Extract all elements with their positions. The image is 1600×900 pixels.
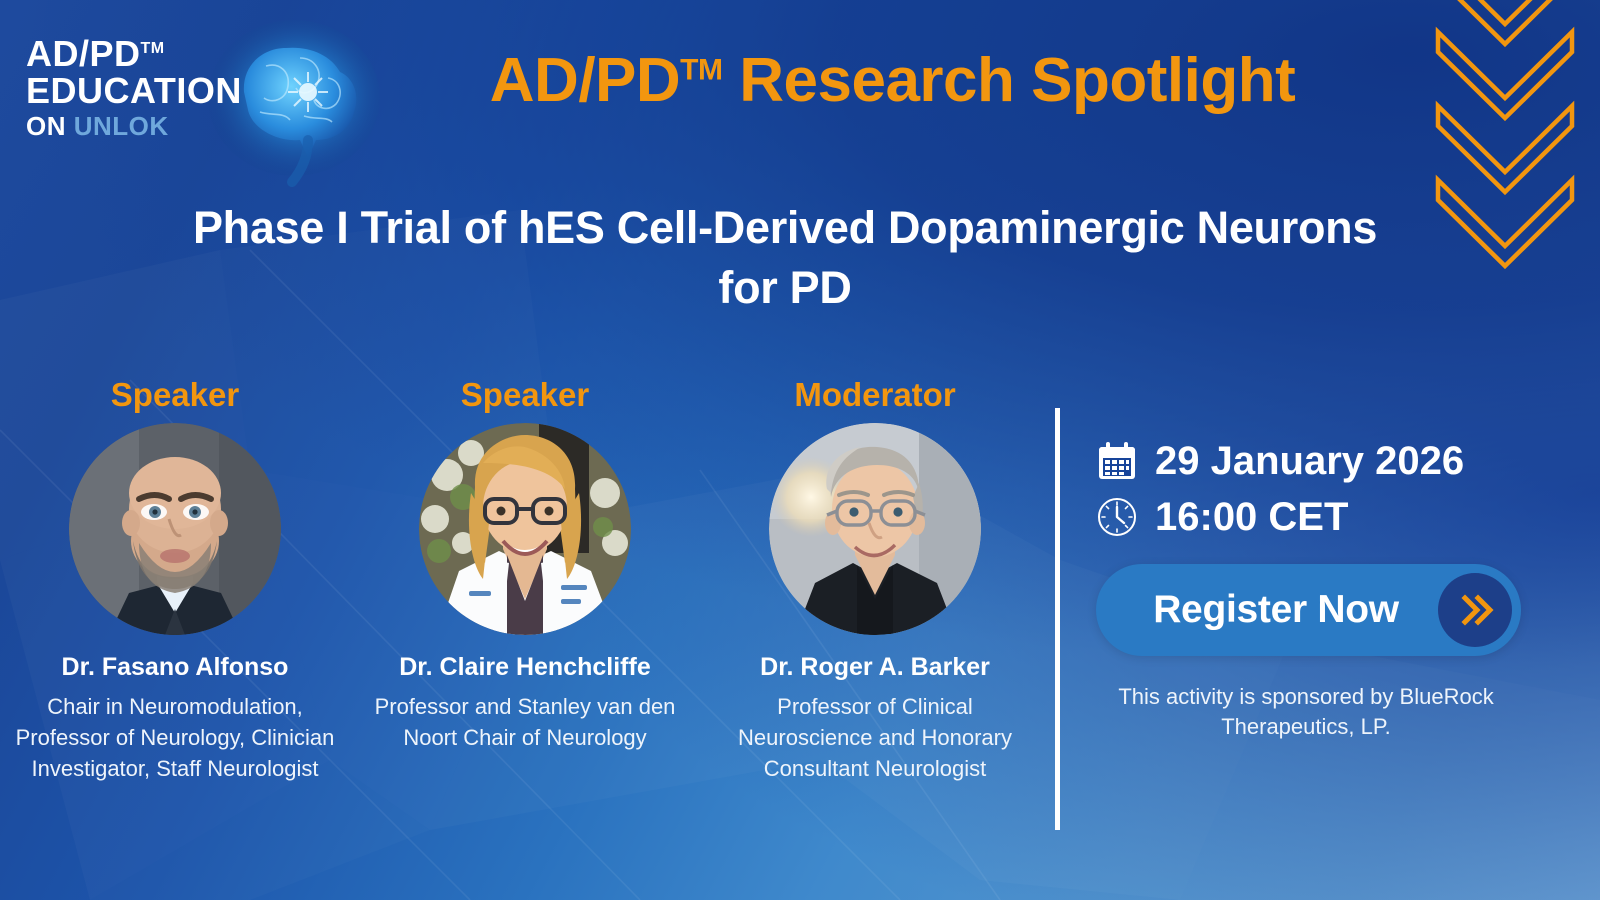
vertical-divider (1055, 408, 1060, 830)
webinar-promo-poster: AD/PDTM EDUCATION ON UNLOK AD/PDTM Resea… (0, 0, 1600, 900)
presenter-title: Chair in Neuromodulation, Professor of N… (0, 691, 350, 785)
logo-line-on-unlok: ON UNLOK (26, 113, 242, 140)
presenter-role-label: Speaker (350, 378, 700, 411)
moderator-portrait-barker (769, 423, 981, 635)
page-title: AD/PDTM Research Spotlight (370, 48, 1415, 113)
chevron-down-icon-stack (1410, 0, 1600, 310)
presenter-title: Professor and Stanley van den Noort Chai… (350, 691, 700, 753)
register-now-label: Register Now (1096, 588, 1438, 632)
presenter-name: Dr. Roger A. Barker (700, 652, 1050, 682)
register-now-button[interactable]: Register Now (1096, 564, 1521, 656)
adpd-education-logo: AD/PDTM EDUCATION ON UNLOK (22, 26, 374, 174)
logo-line-adpd: AD/PDTM (26, 36, 242, 73)
event-time-row: 16:00 CET (1096, 496, 1536, 538)
presenter-role-label: Moderator (700, 378, 1050, 411)
calendar-icon (1096, 440, 1138, 482)
event-time: 16:00 CET (1155, 497, 1348, 537)
speaker-portrait-henchcliffe (419, 423, 631, 635)
presenter-title: Professor of Clinical Neuroscience and H… (700, 691, 1050, 785)
clock-icon (1096, 496, 1138, 538)
logo-wordmark: AD/PDTM EDUCATION ON UNLOK (26, 36, 242, 140)
logo-line-education: EDUCATION (26, 73, 242, 110)
event-info-panel: 29 January 2026 16:00 CET Register Now (1096, 440, 1536, 742)
presenter-card-alfonso: Speaker (0, 378, 350, 785)
presenter-name: Dr. Fasano Alfonso (0, 652, 350, 682)
presenter-name: Dr. Claire Henchcliffe (350, 652, 700, 682)
presenter-role-label: Speaker (0, 378, 350, 411)
presenter-card-henchcliffe: Speaker (350, 378, 700, 785)
event-date-row: 29 January 2026 (1096, 440, 1536, 482)
page-subtitle: Phase I Trial of hES Cell-Derived Dopami… (160, 198, 1410, 319)
double-chevron-right-icon (1438, 573, 1512, 647)
speaker-portrait-alfonso (69, 423, 281, 635)
presenter-card-barker: Moderator (700, 378, 1050, 785)
sponsor-note: This activity is sponsored by BlueRock T… (1096, 682, 1516, 742)
presenters-list: Speaker (0, 378, 1050, 785)
event-date: 29 January 2026 (1155, 441, 1464, 481)
